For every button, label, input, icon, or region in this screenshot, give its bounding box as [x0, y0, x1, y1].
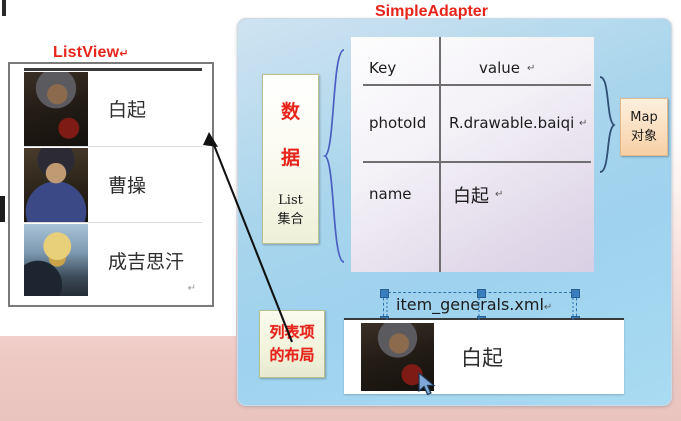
listview-caption-text: ListView	[53, 44, 119, 61]
left-edge-marker	[0, 196, 5, 222]
table-cell-key: photoId	[369, 114, 426, 132]
resize-handle-nw[interactable]	[380, 289, 389, 298]
table-header-key: Key	[369, 59, 396, 77]
list-item[interactable]: 成吉思汗 ↵	[24, 223, 202, 296]
baiqi-portrait	[24, 72, 88, 146]
pilcrow-mark: ↵	[495, 189, 503, 200]
listview-caption: ListView↵	[45, 44, 137, 62]
table-rule	[363, 84, 591, 86]
list-item-label: 白起	[108, 95, 146, 122]
list-item-label: 曹操	[108, 171, 146, 198]
pilcrow-mark: ↵	[119, 48, 128, 60]
list-item[interactable]: 白起	[24, 71, 202, 147]
data-box-line1: 数	[281, 89, 300, 135]
simpleadapter-caption: SimpleAdapter	[375, 3, 488, 21]
data-box-line4: 集合	[277, 210, 303, 229]
table-header-value: value	[479, 59, 520, 77]
data-list-box: 数 据 List 集合	[262, 74, 319, 244]
xml-filename-text: item_generals.xml	[396, 295, 544, 314]
list-item-preview[interactable]: 白起	[344, 318, 624, 394]
slide-canvas: 白起 曹操 成吉思汗 ↵ ListView↵ SimpleAdapter 数 据…	[0, 0, 681, 421]
table-cell-value: R.drawable.baiqi	[449, 114, 574, 132]
pilcrow-mark: ↵	[579, 118, 587, 129]
data-box-line2: 据	[281, 135, 300, 181]
map-box-line1: Map	[630, 108, 657, 127]
table-cell-key: name	[369, 185, 412, 203]
list-item-label: 成吉思汗	[108, 247, 184, 274]
layout-box-line2: 的布局	[269, 344, 314, 367]
list-item-layout-box: 列表项 的布局	[259, 310, 325, 378]
list-item[interactable]: 曹操	[24, 147, 202, 223]
map-object-box: Map 对象	[620, 98, 668, 156]
top-edge-marker	[2, 0, 6, 16]
genghis-portrait	[24, 224, 88, 297]
table-rule	[363, 161, 591, 163]
mouse-cursor	[418, 372, 438, 398]
caocao-portrait	[24, 148, 88, 222]
pilcrow-mark: ↵	[544, 302, 552, 313]
pilcrow-mark: ↵	[188, 283, 196, 294]
xml-filename-label: item_generals.xml↵	[396, 295, 552, 314]
listview-group-box: 白起 曹操 成吉思汗 ↵	[8, 62, 214, 307]
pilcrow-mark: ↵	[527, 63, 535, 74]
layout-box-line1: 列表项	[269, 321, 314, 344]
key-value-table: Key value ↵ photoId R.drawable.baiqi ↵ n…	[351, 37, 594, 272]
preview-item-label: 白起	[461, 342, 503, 372]
map-box-line2: 对象	[631, 127, 657, 146]
resize-handle-ne[interactable]	[571, 289, 580, 298]
table-cell-value: 白起	[453, 182, 489, 208]
listview-widget[interactable]: 白起 曹操 成吉思汗 ↵	[24, 68, 202, 296]
data-box-line3: List	[278, 191, 303, 210]
table-column-divider	[439, 37, 441, 272]
